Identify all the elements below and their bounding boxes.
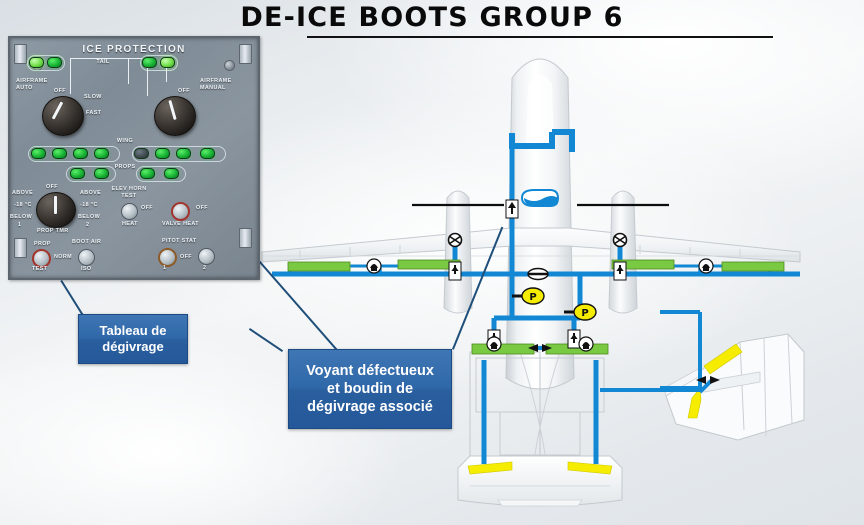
label-pitot-2: 2 [203,265,206,272]
lamp-tail-3[interactable] [142,57,157,68]
wire-drop-c [147,68,148,96]
svg-text:P: P [529,292,536,303]
callout-panel-text: Tableau de dégivrage [79,323,187,356]
wire-drop-d [166,68,167,82]
label-pitot-1: 1 [163,265,166,272]
lamp-tail-2[interactable] [47,57,62,68]
label-below-right: BELOW [78,214,100,221]
lamp-wing-3[interactable] [73,148,88,159]
callout-lamp-box: Voyant défectueux et boudin de dégivrage… [288,349,452,429]
title-underline [307,36,773,38]
label-knob-off-top: OFF [46,184,58,191]
label-test: TEST [32,266,47,273]
label-temp-right: -18 °C [80,202,98,209]
label-pitot-off: OFF [180,254,192,261]
label-tail: TAIL [86,59,120,66]
lamp-wing-7[interactable] [176,148,191,159]
panel-latch-bottom-right[interactable] [239,228,252,248]
label-airframe-manual: AIRFRAME MANUAL [200,78,250,92]
button-boot-air-iso[interactable] [78,249,95,266]
lamp-props-3[interactable] [140,168,155,179]
label-temp-left: -18 °C [14,202,32,209]
svg-text:P: P [581,308,588,319]
callout-lamp-line2: et boudin de [306,380,434,398]
panel-latch-bottom-left[interactable] [14,238,27,258]
label-off-left: OFF [54,88,66,95]
label-boot-air: BOOT AIR [72,239,101,246]
callout-lamp-line1: Voyant défectueux [306,362,434,380]
label-below-right-num: 2 [86,222,89,229]
lamp-props-2[interactable] [94,168,109,179]
label-iso: ISO [81,266,92,273]
callout-panel-box: Tableau de dégivrage [78,314,188,364]
ice-protection-panel[interactable]: ICE PROTECTION TAIL AIRFRAME AUTO OFF SL… [8,36,260,280]
wire-tail-right [128,58,142,59]
label-below-left-num: 1 [18,222,21,229]
label-valve-off: OFF [196,205,208,212]
lamp-props-4[interactable] [164,168,179,179]
label-heat: HEAT [122,221,138,228]
label-wing: WING [108,138,142,145]
panel-latch-top-right[interactable] [239,44,252,64]
knob-prop-tmr-pointer [54,196,57,214]
label-prop: PROP [34,241,51,248]
label-below-left: BELOW [10,214,32,221]
label-above-left: ABOVE [12,190,33,197]
lamp-wing-1[interactable] [31,148,46,159]
label-elev-horn-test: ELEV HORN TEST [106,186,152,200]
label-valve-heat: VALVE HEAT [162,221,199,228]
button-valve-heat[interactable] [171,202,190,221]
panel-latch-top-left[interactable] [14,44,27,64]
wire-drop-a [70,58,71,94]
label-prop-tmr: PROP TMR [37,228,69,235]
button-elev-horn-test[interactable] [121,203,138,220]
lamp-wing-5-defective[interactable] [134,148,149,159]
label-above-right: ABOVE [80,190,101,197]
panel-screw-right [224,60,235,71]
page-title: DE-ICE BOOTS GROUP 6 [0,2,864,33]
lamp-wing-6[interactable] [155,148,170,159]
wire-drop-b [128,58,129,84]
lamp-tail-4[interactable] [160,57,175,68]
label-norm: NORM [54,254,72,261]
lamp-wing-2[interactable] [52,148,67,159]
label-pitot-stat: PITOT STAT [162,238,197,245]
callout-lamp-line3: dégivrage associé [306,398,434,416]
panel-title: ICE PROTECTION [10,44,258,55]
lamp-wing-8[interactable] [200,148,215,159]
lamp-tail-1[interactable] [29,57,44,68]
label-off-right: OFF [178,88,190,95]
screenshot-root: P P DE-ICE BOOTS GROUP 6 ICE PROTECTION … [0,0,864,525]
wire-tail-left [70,58,128,59]
label-heat-off: OFF [141,205,153,212]
label-fast: FAST [86,110,101,117]
lamp-props-1[interactable] [70,168,85,179]
label-slow: SLOW [84,94,102,101]
lamp-wing-4[interactable] [94,148,109,159]
button-pitot-1[interactable] [158,248,177,267]
button-pitot-2[interactable] [198,248,215,265]
